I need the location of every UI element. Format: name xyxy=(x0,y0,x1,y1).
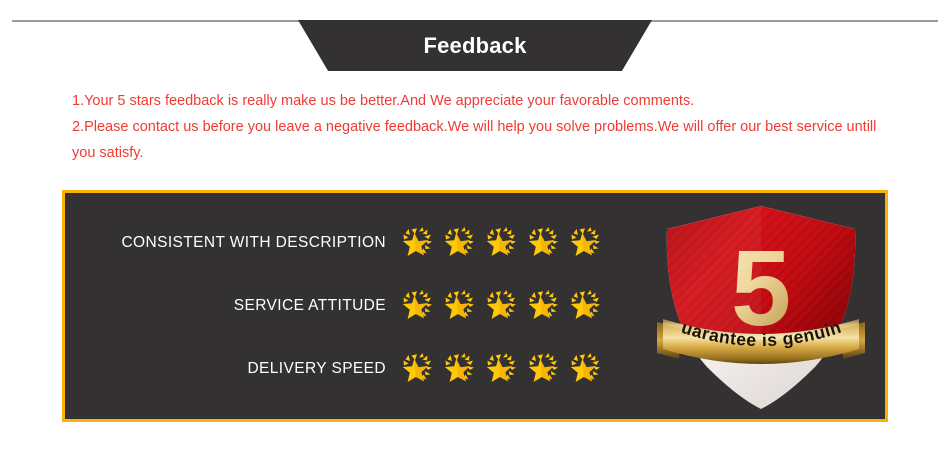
sparkle-star-icon xyxy=(568,352,604,386)
sparkle-star-icon xyxy=(442,289,478,323)
header-divider-left xyxy=(12,20,302,22)
feedback-note-2: 2.Please contact us before you leave a n… xyxy=(72,114,882,166)
rating-stars-delivery-speed xyxy=(400,352,604,386)
sparkle-star-icon xyxy=(484,226,520,260)
rating-row: SERVICE ATTITUDE xyxy=(65,278,637,333)
sparkle-star-icon xyxy=(526,226,562,260)
sparkle-star-icon xyxy=(400,352,436,386)
page-title: Feedback xyxy=(298,20,652,71)
rating-label-service-attitude: SERVICE ATTITUDE xyxy=(65,297,400,315)
sparkle-star-icon xyxy=(568,289,604,323)
sparkle-star-icon xyxy=(442,352,478,386)
rating-row: DELIVERY SPEED xyxy=(65,341,637,396)
sparkle-star-icon xyxy=(568,226,604,260)
feedback-page: Feedback 1.Your 5 stars feedback is real… xyxy=(0,0,950,459)
sparkle-star-icon xyxy=(400,226,436,260)
rating-panel: CONSISTENT WITH DESCRIPTION xyxy=(62,190,888,422)
sparkle-star-icon xyxy=(526,352,562,386)
rating-label-consistent-with-description: CONSISTENT WITH DESCRIPTION xyxy=(65,234,400,252)
sparkle-star-icon xyxy=(526,289,562,323)
sparkle-star-icon xyxy=(400,289,436,323)
rating-stars-service-attitude xyxy=(400,289,604,323)
header: Feedback xyxy=(0,0,950,78)
sparkle-star-icon xyxy=(484,352,520,386)
sparkle-star-icon xyxy=(484,289,520,323)
guarantee-shield-badge: 5 guarantee is genuine xyxy=(655,199,867,414)
rating-stars-consistent-with-description xyxy=(400,226,604,260)
sparkle-star-icon xyxy=(442,226,478,260)
feedback-notes: 1.Your 5 stars feedback is really make u… xyxy=(72,88,882,166)
rating-row: CONSISTENT WITH DESCRIPTION xyxy=(65,215,637,270)
header-divider-right xyxy=(648,20,938,22)
feedback-note-1: 1.Your 5 stars feedback is really make u… xyxy=(72,88,882,114)
rating-label-delivery-speed: DELIVERY SPEED xyxy=(65,360,400,378)
rating-rows: CONSISTENT WITH DESCRIPTION xyxy=(65,215,637,404)
